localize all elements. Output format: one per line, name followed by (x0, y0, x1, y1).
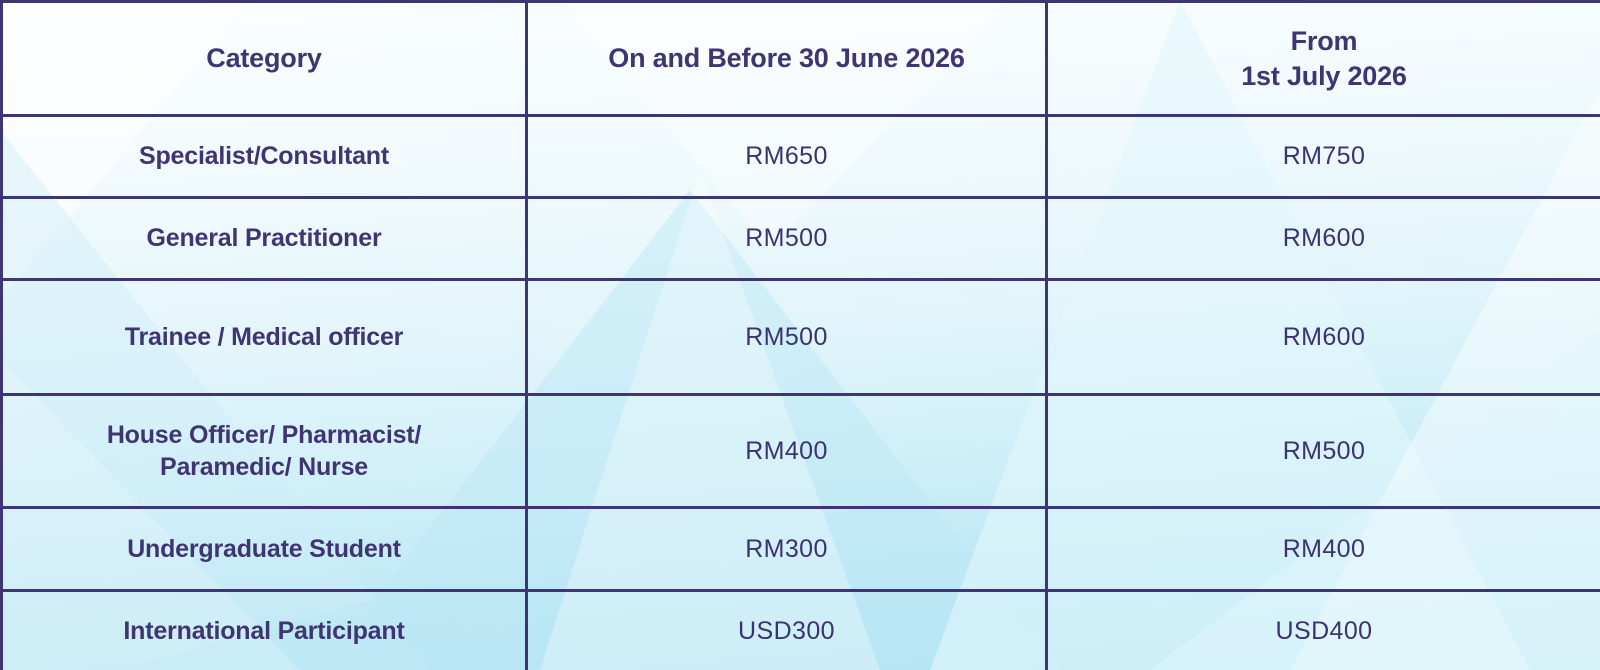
cell-price-late: RM600 (1047, 198, 1600, 280)
cell-price-early: RM300 (527, 508, 1047, 591)
table-row: International Participant USD300 USD400 (2, 591, 1600, 670)
cell-price-late: RM600 (1047, 280, 1600, 395)
column-header-late-line1: From (1291, 26, 1358, 56)
cell-price-early: RM400 (527, 395, 1047, 508)
table-row: House Officer/ Pharmacist/ Paramedic/ Nu… (2, 395, 1600, 508)
cell-price-late: RM500 (1047, 395, 1600, 508)
cell-category: Undergraduate Student (2, 508, 527, 591)
cell-category-line2: Paramedic/ Nurse (160, 453, 368, 481)
registration-fee-table: Category On and Before 30 June 2026 From… (0, 0, 1600, 670)
cell-category: General Practitioner (2, 198, 527, 280)
table-row: Undergraduate Student RM300 RM400 (2, 508, 1600, 591)
cell-price-late: RM750 (1047, 116, 1600, 198)
cell-price-early: RM500 (527, 198, 1047, 280)
cell-category: Trainee / Medical officer (2, 280, 527, 395)
cell-category: House Officer/ Pharmacist/ Paramedic/ Nu… (2, 395, 527, 508)
column-header-late: From 1st July 2026 (1047, 2, 1600, 116)
cell-price-late: RM400 (1047, 508, 1600, 591)
cell-price-late: USD400 (1047, 591, 1600, 670)
table-row: General Practitioner RM500 RM600 (2, 198, 1600, 280)
cell-category-line1: House Officer/ Pharmacist/ (107, 421, 421, 449)
cell-price-early: RM500 (527, 280, 1047, 395)
column-header-early-bird: On and Before 30 June 2026 (527, 2, 1047, 116)
table-header-row: Category On and Before 30 June 2026 From… (2, 2, 1600, 116)
table-row: Trainee / Medical officer RM500 RM600 (2, 280, 1600, 395)
table-row: Specialist/Consultant RM650 RM750 (2, 116, 1600, 198)
cell-price-early: USD300 (527, 591, 1047, 670)
fee-table-page: Category On and Before 30 June 2026 From… (0, 0, 1600, 670)
cell-price-early: RM650 (527, 116, 1047, 198)
column-header-late-line2: 1st July 2026 (1241, 61, 1407, 91)
cell-category: Specialist/Consultant (2, 116, 527, 198)
cell-category: International Participant (2, 591, 527, 670)
column-header-category: Category (2, 2, 527, 116)
